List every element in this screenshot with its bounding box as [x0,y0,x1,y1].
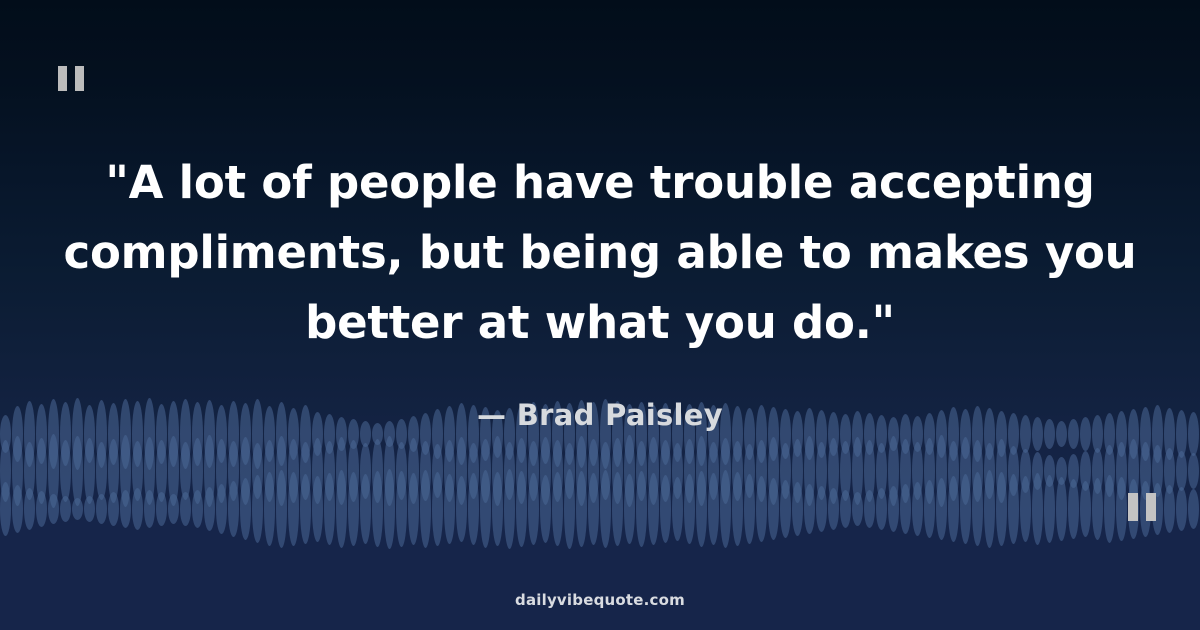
waveform-bar [1188,489,1199,529]
waveform-bar [816,442,827,500]
waveform-bar [1164,485,1175,533]
waveform-bar [864,490,875,528]
waveform-bar [960,474,971,544]
waveform-bar [756,476,767,542]
waveform-bar [744,444,755,498]
waveform-bar [60,440,71,502]
waveform-bar [156,440,167,502]
waveform-bar [132,441,143,501]
waveform-bar [1068,479,1079,539]
waveform-bar [408,473,419,545]
waveform-row-2 [0,432,1200,510]
waveform-bar [684,474,695,544]
waveform-bar [144,437,155,505]
waveform-bar [648,473,659,545]
waveform-bar [996,472,1007,546]
waveform-bar [876,488,887,530]
quote-line-2: compliments, but being able to makes you [0,218,1200,288]
waveform-bar [864,440,875,502]
quote-mark-icon-bottom [1128,493,1156,521]
waveform-bar [1056,477,1067,541]
waveform-bar [744,474,755,544]
quote-card: "A lot of people have trouble accepting … [0,0,1200,630]
waveform-bar [12,436,23,506]
waveform-bar [576,471,587,547]
waveform-bar [912,442,923,500]
waveform-bar [48,494,59,524]
waveform-bar [96,494,107,524]
waveform-bar [840,490,851,528]
waveform-bar [1092,448,1103,494]
waveform-bar [840,441,851,501]
waveform-bar [624,435,635,507]
waveform-bar [360,443,371,499]
waveform-bar [468,443,479,499]
waveform-bar [132,488,143,530]
waveform-bar [408,438,419,504]
waveform-bar [12,485,23,533]
waveform-bar [180,492,191,526]
waveform-bar [876,443,887,499]
waveform-bar [1044,475,1055,543]
waveform-bar [780,480,791,538]
site-name: dailyvibequote.com [0,591,1200,609]
waveform-bar [888,436,899,506]
waveform-bar [384,469,395,549]
waveform-bar [624,474,635,544]
waveform-bar [648,437,659,505]
waveform-bar [240,437,251,505]
waveform-bar [528,473,539,545]
waveform-bar [1056,457,1067,485]
waveform-bar [504,469,515,549]
waveform-bar [144,490,155,528]
waveform-bar [312,476,323,542]
waveform-bar [1164,448,1175,494]
waveform-bar [468,473,479,545]
waveform-bar [972,472,983,546]
waveform-bar [108,492,119,526]
waveform-bar [348,440,359,502]
waveform-bar [552,440,563,502]
waveform-bar [540,437,551,505]
waveform-bar [324,441,335,501]
waveform-bar [396,471,407,547]
waveform-bar [708,442,719,500]
waveform-bar [1176,487,1187,531]
waveform-bar [948,441,959,501]
waveform-bar [984,470,995,548]
waveform-bar [900,484,911,534]
waveform-bar [324,473,335,545]
waveform-bar [660,475,671,543]
waveform-bar [228,481,239,537]
waveform-bar [480,470,491,548]
waveform-bar [888,486,899,532]
waveform-bar [780,443,791,499]
waveform-bar [732,441,743,501]
waveform-bar [24,488,35,530]
quote-attribution: — Brad Paisley [0,398,1200,432]
waveform-bar [768,478,779,540]
waveform-bar [300,442,311,500]
waveform-bar [168,436,179,506]
waveform-bar [600,470,611,548]
waveform-bar [1188,453,1199,489]
waveform-bar [228,441,239,501]
quote-line-3: better at what you do." [0,288,1200,358]
waveform-bar [1152,445,1163,497]
waveform-bar [612,438,623,504]
quote-bar-left [58,66,67,91]
waveform-bar [264,440,275,502]
waveform-bar [852,492,863,526]
waveform-bar [708,473,719,545]
waveform-bar [36,491,47,527]
waveform-bar [180,442,191,500]
waveform-bar [1020,476,1031,542]
waveform-bar [792,482,803,536]
waveform-bar [168,494,179,524]
waveform-bar [1140,442,1151,500]
waveform-bar [588,439,599,503]
waveform-bar [1104,445,1115,497]
waveform-bar [192,438,203,504]
waveform-bar [396,442,407,500]
waveform-bar [372,439,383,503]
waveform-bar [384,436,395,506]
waveform-bar [300,474,311,544]
waveform-bar [720,438,731,504]
waveform-bar [420,441,431,501]
waveform-bar [996,439,1007,503]
waveform-bar [1116,477,1127,541]
waveform-bar [216,439,227,503]
waveform-bar [348,472,359,546]
waveform-bar [48,434,59,508]
waveform-bar [1080,451,1091,491]
waveform-bar [936,478,947,540]
waveform-bar [660,440,671,502]
waveform-bar [720,470,731,548]
quote-mark-icon-top [58,66,84,91]
waveform-bar [432,444,443,498]
waveform-bar [108,439,119,503]
waveform-bar [264,472,275,546]
waveform-bar [312,438,323,504]
waveform-bar [84,496,95,522]
quote-bar-right [75,66,84,91]
waveform-bar [972,440,983,502]
waveform-bar [672,443,683,499]
waveform-bar [816,486,827,532]
waveform-bar [948,476,959,542]
waveform-bar [564,469,575,549]
waveform-bar [924,480,935,538]
waveform-bar [828,438,839,504]
waveform-bar [336,470,347,548]
waveform-bar [732,472,743,546]
quote-text: "A lot of people have trouble accepting … [0,148,1200,358]
quote-line-1: "A lot of people have trouble accepting [0,148,1200,218]
waveform-bar [204,487,215,531]
waveform-bar [204,435,215,507]
waveform-bar [36,438,47,504]
waveform-bar [804,484,815,534]
waveform-bar [276,436,287,506]
waveform-bar [528,441,539,501]
waveform-bar [72,436,83,506]
waveform-bar [912,482,923,536]
waveform-bar [828,488,839,530]
waveform-bar [480,439,491,503]
waveform-bar [444,474,455,544]
waveform-bar [84,438,95,504]
waveform-bar [120,490,131,528]
waveform-bar [1008,474,1019,544]
waveform-bar [336,437,347,505]
waveform-bar [360,474,371,544]
waveform-bar [492,472,503,546]
waveform-bar [456,476,467,542]
waveform-bar [372,471,383,547]
waveform-bar [504,442,515,500]
waveform-bar [768,437,779,505]
footer-band [0,550,1200,630]
waveform-bar [252,443,263,499]
waveform-bar [516,438,527,504]
waveform-bar [684,439,695,503]
waveform-bar [0,440,11,502]
waveform-bar [1176,451,1187,491]
waveform-bar [636,471,647,547]
quote-bar-right [1146,493,1156,521]
waveform-row-3 [0,468,1200,550]
waveform-bar [60,496,71,522]
waveform-bar [612,472,623,546]
waveform-bar [1068,454,1079,488]
waveform-bar [936,435,947,507]
waveform-bar [552,472,563,546]
waveform-bar [960,437,971,505]
waveform-bar [24,442,35,500]
waveform-bar [288,439,299,503]
waveform-bar [672,477,683,541]
waveform-bar [1044,455,1055,487]
waveform-bar [636,441,647,501]
waveform-bar [1008,446,1019,496]
waveform-bar [216,484,227,534]
waveform-bar [1116,442,1127,500]
waveform-bar [420,470,431,548]
waveform-bar [984,443,995,499]
waveform-bar [288,472,299,546]
waveform-bar [120,435,131,507]
waveform-bar [492,436,503,506]
waveform-bar [1104,475,1115,543]
waveform-bar [1020,449,1031,493]
waveform-bar [252,475,263,543]
waveform-bar [540,475,551,543]
waveform-bar [900,439,911,503]
waveform-bar [0,482,11,536]
waveform-bar [576,436,587,506]
waveform-bar [72,498,83,520]
waveform-bar [1080,481,1091,537]
waveform-bar [804,436,815,506]
waveform-bar [600,442,611,500]
waveform-bar [852,437,863,505]
waveform-bar [432,472,443,546]
waveform-bar [564,443,575,499]
waveform-bar [240,478,251,540]
waveform-bar [1032,473,1043,545]
waveform-bar [1032,452,1043,490]
waveform-bar [756,440,767,502]
waveform-bar [516,471,527,547]
quote-bar-left [1128,493,1138,521]
waveform-bar [696,471,707,547]
waveform-bar [276,470,287,548]
waveform-bar [792,439,803,503]
waveform-bar [456,437,467,505]
waveform-bar [1092,478,1103,540]
waveform-bar [588,473,599,545]
waveform-bar [444,440,455,502]
waveform-bar [192,490,203,528]
waveform-bar [156,492,167,526]
waveform-bar [96,442,107,500]
waveform-bar [924,438,935,504]
waveform-bar [696,436,707,506]
